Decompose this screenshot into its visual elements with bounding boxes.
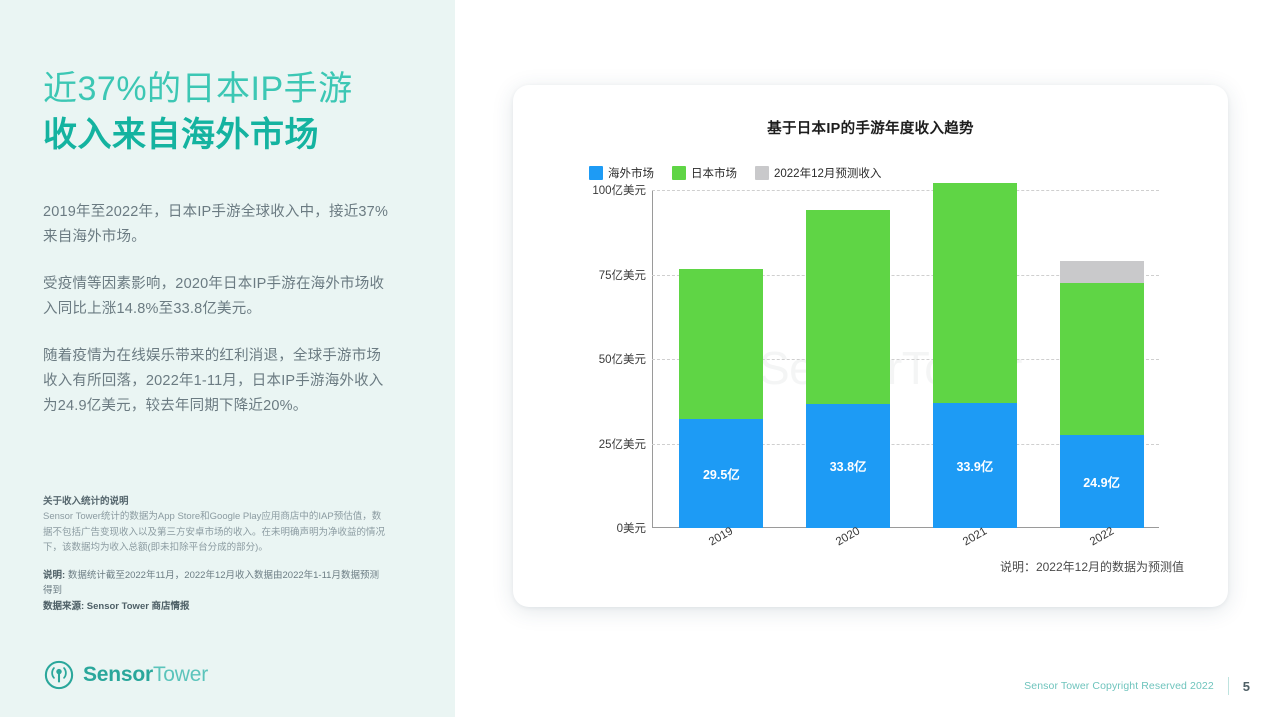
bar-2019[interactable]: 29.5亿 <box>679 269 763 528</box>
bar-segment-2019-1[interactable] <box>679 269 763 419</box>
legend-item-japan[interactable]: 日本市场 <box>672 165 737 181</box>
legend-label-overseas: 海外市场 <box>608 165 654 181</box>
data-note-label: 说明: <box>43 570 65 581</box>
x-axis-tick-2022: 2022 <box>1088 525 1116 548</box>
footnote-heading: 关于收入统计的说明 <box>43 494 388 509</box>
legend-label-japan: 日本市场 <box>691 165 737 181</box>
footnote-spacer <box>43 556 388 568</box>
y-axis-tick-label: 75亿美元 <box>551 267 646 283</box>
page-footer: Sensor Tower Copyright Reserved 2022 5 <box>1024 677 1250 695</box>
bar-2020[interactable]: 33.8亿 <box>806 210 890 528</box>
bar-value-label-2022: 24.9亿 <box>1060 472 1144 491</box>
y-axis-tick-label: 0美元 <box>551 520 646 536</box>
legend-item-overseas[interactable]: 海外市场 <box>589 165 654 181</box>
page-number: 5 <box>1243 679 1250 694</box>
body-copy: 2019年至2022年，日本IP手游全球收入中，接近37%来自海外市场。 受疫情… <box>43 200 393 441</box>
footer-copyright: Sensor Tower Copyright Reserved 2022 <box>1024 680 1214 692</box>
logo-wordmark: SensorTower <box>83 663 208 687</box>
paragraph-2: 受疫情等因素影响，2020年日本IP手游在海外市场收入同比上涨14.8%至33.… <box>43 272 393 322</box>
chart-legend: 海外市场 日本市场 2022年12月预测收入 <box>589 165 890 181</box>
sensor-tower-logo: SensorTower <box>44 660 208 690</box>
footnote-body: Sensor Tower统计的数据为App Store和Google Play应… <box>43 509 388 556</box>
bar-value-label-2019: 29.5亿 <box>679 464 763 483</box>
chart-plot-area: 0美元25亿美元50亿美元75亿美元100亿美元29.5亿201933.8亿20… <box>652 190 1159 528</box>
x-axis-tick-2020: 2020 <box>834 525 862 548</box>
headline-line-2: 收入来自海外市场 <box>43 112 433 158</box>
headline-line-1: 近37%的日本IP手游 <box>43 66 433 112</box>
legend-label-forecast: 2022年12月预测收入 <box>774 165 881 181</box>
chart-title: 基于日本IP的手游年度收入趋势 <box>513 117 1228 138</box>
bar-segment-2022-2[interactable] <box>1060 261 1144 283</box>
logo-word-tower: Tower <box>153 663 208 686</box>
chart-footnote: 说明：2022年12月的数据为预测值 <box>1000 558 1184 575</box>
bar-segment-2022-1[interactable] <box>1060 283 1144 435</box>
sensor-tower-logo-icon <box>44 660 74 690</box>
gridline-100 <box>652 190 1159 191</box>
y-axis-tick-label: 25亿美元 <box>551 436 646 452</box>
legend-item-forecast[interactable]: 2022年12月预测收入 <box>755 165 881 181</box>
paragraph-1: 2019年至2022年，日本IP手游全球收入中，接近37%来自海外市场。 <box>43 200 393 250</box>
chart-card: 基于日本IP的手游年度收入趋势 海外市场 日本市场 2022年12月预测收入 <box>513 85 1228 607</box>
page-title: 近37%的日本IP手游 收入来自海外市场 <box>43 66 433 158</box>
bar-2021[interactable]: 33.9亿 <box>933 183 1017 528</box>
legend-swatch-japan <box>672 166 686 180</box>
y-axis-tick-label: 100亿美元 <box>551 182 646 198</box>
data-note-text: 数据统计截至2022年11月，2022年12月收入数据由2022年1-11月数据… <box>43 570 379 597</box>
x-axis-tick-2021: 2021 <box>961 525 989 548</box>
bar-segment-2021-1[interactable] <box>933 183 1017 403</box>
right-chart-panel: 基于日本IP的手游年度收入趋势 海外市场 日本市场 2022年12月预测收入 <box>455 0 1280 717</box>
data-note: 说明: 数据统计截至2022年11月，2022年12月收入数据由2022年1-1… <box>43 568 388 599</box>
bar-segment-2020-1[interactable] <box>806 210 890 404</box>
legend-swatch-forecast <box>755 166 769 180</box>
y-axis-tick-label: 50亿美元 <box>551 351 646 367</box>
paragraph-3: 随着疫情为在线娱乐带来的红利消退，全球手游市场收入有所回落，2022年1-11月… <box>43 344 393 419</box>
bar-value-label-2021: 33.9亿 <box>933 456 1017 475</box>
bar-2022[interactable]: 24.9亿 <box>1060 261 1144 528</box>
data-source: 数据来源: Sensor Tower 商店情报 <box>43 599 388 615</box>
logo-word-sensor: Sensor <box>83 663 153 686</box>
footnotes: 关于收入统计的说明 Sensor Tower统计的数据为App Store和Go… <box>43 494 388 614</box>
x-axis-tick-2019: 2019 <box>707 525 735 548</box>
legend-swatch-overseas <box>589 166 603 180</box>
left-info-panel: 近37%的日本IP手游 收入来自海外市场 2019年至2022年，日本IP手游全… <box>0 0 455 717</box>
bar-value-label-2020: 33.8亿 <box>806 456 890 475</box>
footer-divider <box>1228 677 1229 695</box>
